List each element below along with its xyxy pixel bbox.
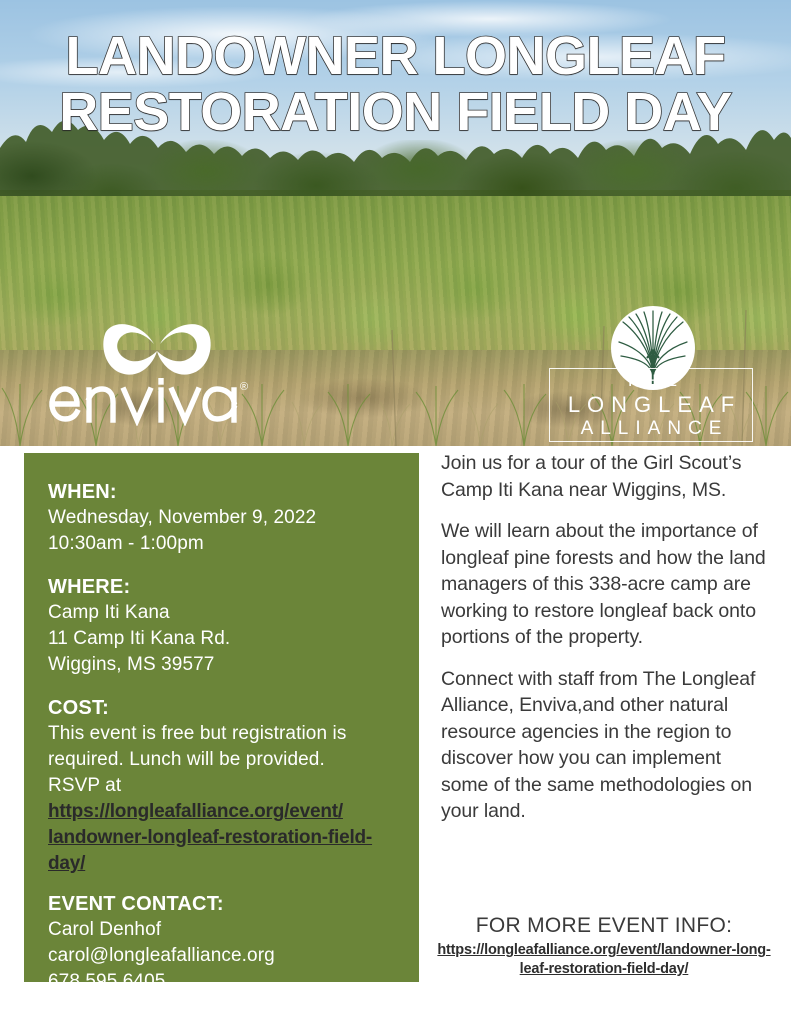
event-contact-label: EVENT CONTACT: [48,891,393,917]
contact-phone[interactable]: 678.595.6405 [48,969,393,995]
registered-trademark-icon: ® [240,382,248,393]
rsvp-link-line-3[interactable]: day/ [48,851,393,877]
cost-label: COST: [48,695,393,721]
when-label: WHEN: [48,479,393,505]
cost-line-3: RSVP at [48,773,393,799]
longleaf-alliance-logo: THE LONGLEAF ALLIANCE [549,306,755,444]
more-info-link-line-1[interactable]: https://longleafalliance.org/event/lando… [424,941,784,960]
tla-line-the: THE [549,370,753,392]
title-line-1: LANDOWNER LONGLEAF [0,28,791,84]
more-info-title: FOR MORE EVENT INFO: [424,913,784,939]
more-info-link-line-2[interactable]: leaf-restoration-field-day/ [424,960,784,979]
description-column: Join us for a tour of the Girl Scout’s C… [441,450,771,840]
where-label: WHERE: [48,574,393,600]
where-street: 11 Camp Iti Kana Rd. [48,626,393,652]
cost-line-2: required. Lunch will be provided. [48,747,393,773]
hero-photo: LANDOWNER LONGLEAF RESTORATION FIELD DAY [0,0,791,446]
spacer [48,678,393,695]
where-city-state-zip: Wiggins, MS 39577 [48,652,393,678]
title-line-2: RESTORATION FIELD DAY [0,84,791,140]
enviva-wordmark [44,378,259,426]
flyer-title: LANDOWNER LONGLEAF RESTORATION FIELD DAY [0,28,791,140]
when-time: 10:30am - 1:00pm [48,531,393,557]
where-venue: Camp Iti Kana [48,600,393,626]
spacer [48,877,393,891]
enviva-logo: ® [44,318,259,436]
tla-line-alliance: ALLIANCE [549,417,753,440]
when-date: Wednesday, November 9, 2022 [48,505,393,531]
longleaf-alliance-wordmark: THE LONGLEAF ALLIANCE [549,370,753,440]
description-paragraph-1: Join us for a tour of the Girl Scout’s C… [441,450,771,503]
contact-name: Carol Denhof [48,917,393,943]
contact-email[interactable]: carol@longleafalliance.org [48,943,393,969]
rsvp-link-line-1[interactable]: https://longleafalliance.org/event/ [48,799,393,825]
event-details-panel: WHEN: Wednesday, November 9, 2022 10:30a… [24,453,419,982]
description-paragraph-2: We will learn about the importance of lo… [441,518,771,651]
tla-line-longleaf: LONGLEAF [549,392,753,417]
more-info-footer: FOR MORE EVENT INFO: https://longleafall… [424,913,784,979]
rsvp-link-line-2[interactable]: landowner-longleaf-restoration-field- [48,825,393,851]
description-paragraph-3: Connect with staff from The Longleaf All… [441,666,771,825]
enviva-butterfly-infinity-icon [98,318,216,382]
cost-line-1: This event is free but registration is [48,721,393,747]
spacer [48,557,393,574]
